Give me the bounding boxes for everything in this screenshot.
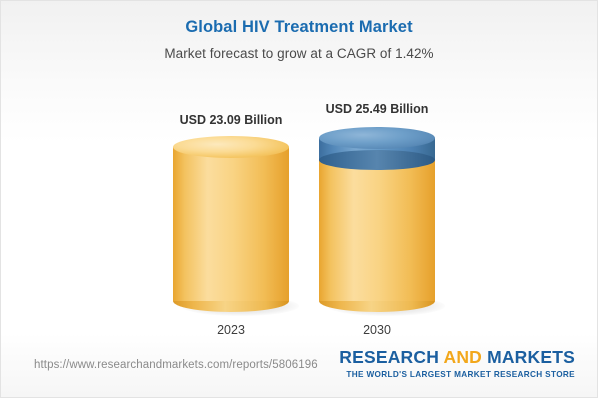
cylinder-body-base bbox=[319, 159, 435, 301]
logo-word-research: RESEARCH bbox=[339, 347, 439, 367]
bar-group-2030: USD 25.49 Billion 2030 bbox=[319, 91, 435, 341]
chart-card: Global HIV Treatment Market Market forec… bbox=[0, 0, 598, 398]
cylinder-top-ellipse-growth bbox=[319, 127, 435, 149]
cylinder-body bbox=[173, 147, 289, 301]
bar-value-label-2030: USD 25.49 Billion bbox=[326, 102, 429, 116]
bar-category-label-2023: 2023 bbox=[217, 323, 245, 337]
logo-word-and: AND bbox=[443, 347, 482, 367]
plot-area: USD 23.09 Billion 2023 USD 25.49 Billion… bbox=[1, 91, 599, 341]
cylinder-growth-seam bbox=[319, 150, 435, 170]
logo-word-markets: MARKETS bbox=[487, 347, 575, 367]
cylinder-2023[interactable] bbox=[173, 136, 289, 312]
logo-wordmark: RESEARCH AND MARKETS bbox=[339, 347, 575, 367]
report-url[interactable]: https://www.researchandmarkets.com/repor… bbox=[34, 359, 318, 371]
cylinder-top-ellipse bbox=[173, 136, 289, 158]
footer: https://www.researchandmarkets.com/repor… bbox=[1, 339, 597, 397]
chart-subtitle: Market forecast to grow at a CAGR of 1.4… bbox=[1, 45, 597, 63]
logo-tagline: THE WORLD'S LARGEST MARKET RESEARCH STOR… bbox=[339, 369, 575, 380]
research-and-markets-logo[interactable]: RESEARCH AND MARKETS THE WORLD'S LARGEST… bbox=[339, 347, 575, 380]
bar-value-label-2023: USD 23.09 Billion bbox=[180, 113, 283, 127]
chart-header: Global HIV Treatment Market Market forec… bbox=[1, 17, 597, 63]
page-title: Global HIV Treatment Market bbox=[1, 17, 597, 37]
bar-group-2023: USD 23.09 Billion 2023 bbox=[173, 91, 289, 341]
bar-category-label-2030: 2030 bbox=[363, 323, 391, 337]
cylinder-2030[interactable] bbox=[319, 127, 435, 312]
